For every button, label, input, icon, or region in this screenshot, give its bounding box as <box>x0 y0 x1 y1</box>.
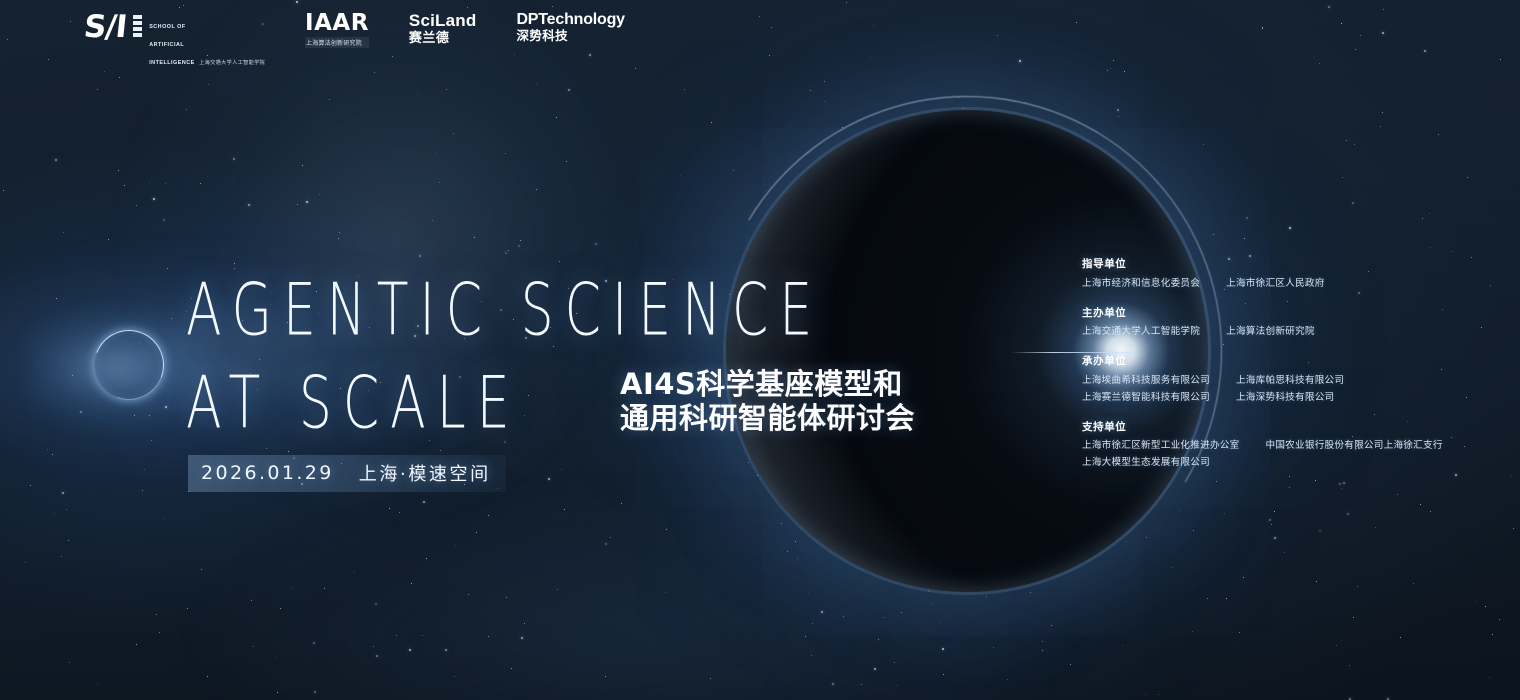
organization-row: 上海大模型生态发展有限公司 <box>1082 456 1482 470</box>
iaar-chinese-name: 上海算法创新研究院 <box>305 37 369 48</box>
organization-row: 上海市经济和信息化委员会上海市徐汇区人民政府 <box>1082 277 1482 291</box>
organization-row: 上海交通大学人工智能学院上海算法创新研究院 <box>1082 325 1482 339</box>
sai-chinese-name: 上海交通大学人工智能学院 <box>199 60 265 66</box>
sponsor-logo-bar: S/I SCHOOL OF ARTIFICIAL INTELLIGENCE 上海… <box>84 12 625 69</box>
organization-name: 中国农业银行股份有限公司上海徐汇支行 <box>1266 439 1443 453</box>
sai-bars-icon <box>133 12 142 37</box>
event-location: 上海·模速空间 <box>359 460 491 486</box>
sai-monogram: S/I <box>82 12 127 43</box>
organization-name: 上海市经济和信息化委员会 <box>1082 277 1200 291</box>
dptechnology-chinese-name: 深势科技 <box>516 30 624 44</box>
organization-name: 上海深势科技有限公司 <box>1236 391 1334 405</box>
organization-name: 上海市徐汇区新型工业化推进办公室 <box>1082 439 1240 453</box>
organization-name: 上海算法创新研究院 <box>1226 325 1315 339</box>
organization-group: 支持单位上海市徐汇区新型工业化推进办公室中国农业银行股份有限公司上海徐汇支行上海… <box>1082 421 1482 470</box>
sai-logo-text: SCHOOL OF ARTIFICIAL INTELLIGENCE 上海交通大学… <box>149 12 265 69</box>
organization-group-title: 支持单位 <box>1082 421 1482 435</box>
organization-group-title: 承办单位 <box>1082 355 1482 369</box>
logo-iaar: IAAR 上海算法创新研究院 <box>305 12 369 48</box>
organization-name: 上海大模型生态发展有限公司 <box>1082 456 1210 470</box>
chinese-subtitle: AI4S科学基座模型和 通用科研智能体研讨会 <box>620 368 915 435</box>
organization-row: 上海埃曲希科技服务有限公司上海库帕思科技有限公司 <box>1082 374 1482 388</box>
sciland-chinese-name: 赛兰德 <box>409 31 477 45</box>
organization-name: 上海市徐汇区人民政府 <box>1226 277 1324 291</box>
organization-group: 承办单位上海埃曲希科技服务有限公司上海库帕思科技有限公司上海赛兰德智能科技有限公… <box>1082 355 1482 404</box>
organization-credits: 指导单位上海市经济和信息化委员会上海市徐汇区人民政府主办单位上海交通大学人工智能… <box>1082 258 1482 470</box>
organization-group-title: 指导单位 <box>1082 258 1482 272</box>
organization-group-title: 主办单位 <box>1082 307 1482 321</box>
event-date-location-badge: 2026.01.29 上海·模速空间 <box>188 455 506 492</box>
dptechnology-wordmark: DPTechnology <box>516 12 624 29</box>
event-date: 2026.01.29 <box>201 462 334 484</box>
organization-rows: 上海市经济和信息化委员会上海市徐汇区人民政府 <box>1082 277 1482 291</box>
ring-outline <box>83 319 175 411</box>
ring-planet-graphic <box>88 326 170 408</box>
conference-poster: S/I SCHOOL OF ARTIFICIAL INTELLIGENCE 上海… <box>0 0 1520 700</box>
organization-row: 上海市徐汇区新型工业化推进办公室中国农业银行股份有限公司上海徐汇支行 <box>1082 439 1482 453</box>
sciland-wordmark: SciLand <box>409 12 477 30</box>
organization-row: 上海赛兰德智能科技有限公司上海深势科技有限公司 <box>1082 391 1482 405</box>
iaar-wordmark: IAAR <box>305 12 369 35</box>
organization-group: 主办单位上海交通大学人工智能学院上海算法创新研究院 <box>1082 307 1482 340</box>
sai-english-name: SCHOOL OF ARTIFICIAL INTELLIGENCE <box>149 24 195 66</box>
logo-dptechnology: DPTechnology 深势科技 <box>516 12 624 44</box>
organization-rows: 上海埃曲希科技服务有限公司上海库帕思科技有限公司上海赛兰德智能科技有限公司上海深… <box>1082 374 1482 405</box>
organization-group: 指导单位上海市经济和信息化委员会上海市徐汇区人民政府 <box>1082 258 1482 291</box>
organization-rows: 上海交通大学人工智能学院上海算法创新研究院 <box>1082 325 1482 339</box>
logo-sai: S/I SCHOOL OF ARTIFICIAL INTELLIGENCE 上海… <box>84 12 265 69</box>
organization-rows: 上海市徐汇区新型工业化推进办公室中国农业银行股份有限公司上海徐汇支行上海大模型生… <box>1082 439 1482 470</box>
organization-name: 上海库帕思科技有限公司 <box>1236 374 1344 388</box>
organization-name: 上海交通大学人工智能学院 <box>1082 325 1200 339</box>
logo-sciland: SciLand 赛兰德 <box>409 12 477 45</box>
organization-name: 上海埃曲希科技服务有限公司 <box>1082 374 1210 388</box>
headline-line-1: AGENTIC SCIENCE <box>186 278 823 347</box>
organization-name: 上海赛兰德智能科技有限公司 <box>1082 391 1210 405</box>
